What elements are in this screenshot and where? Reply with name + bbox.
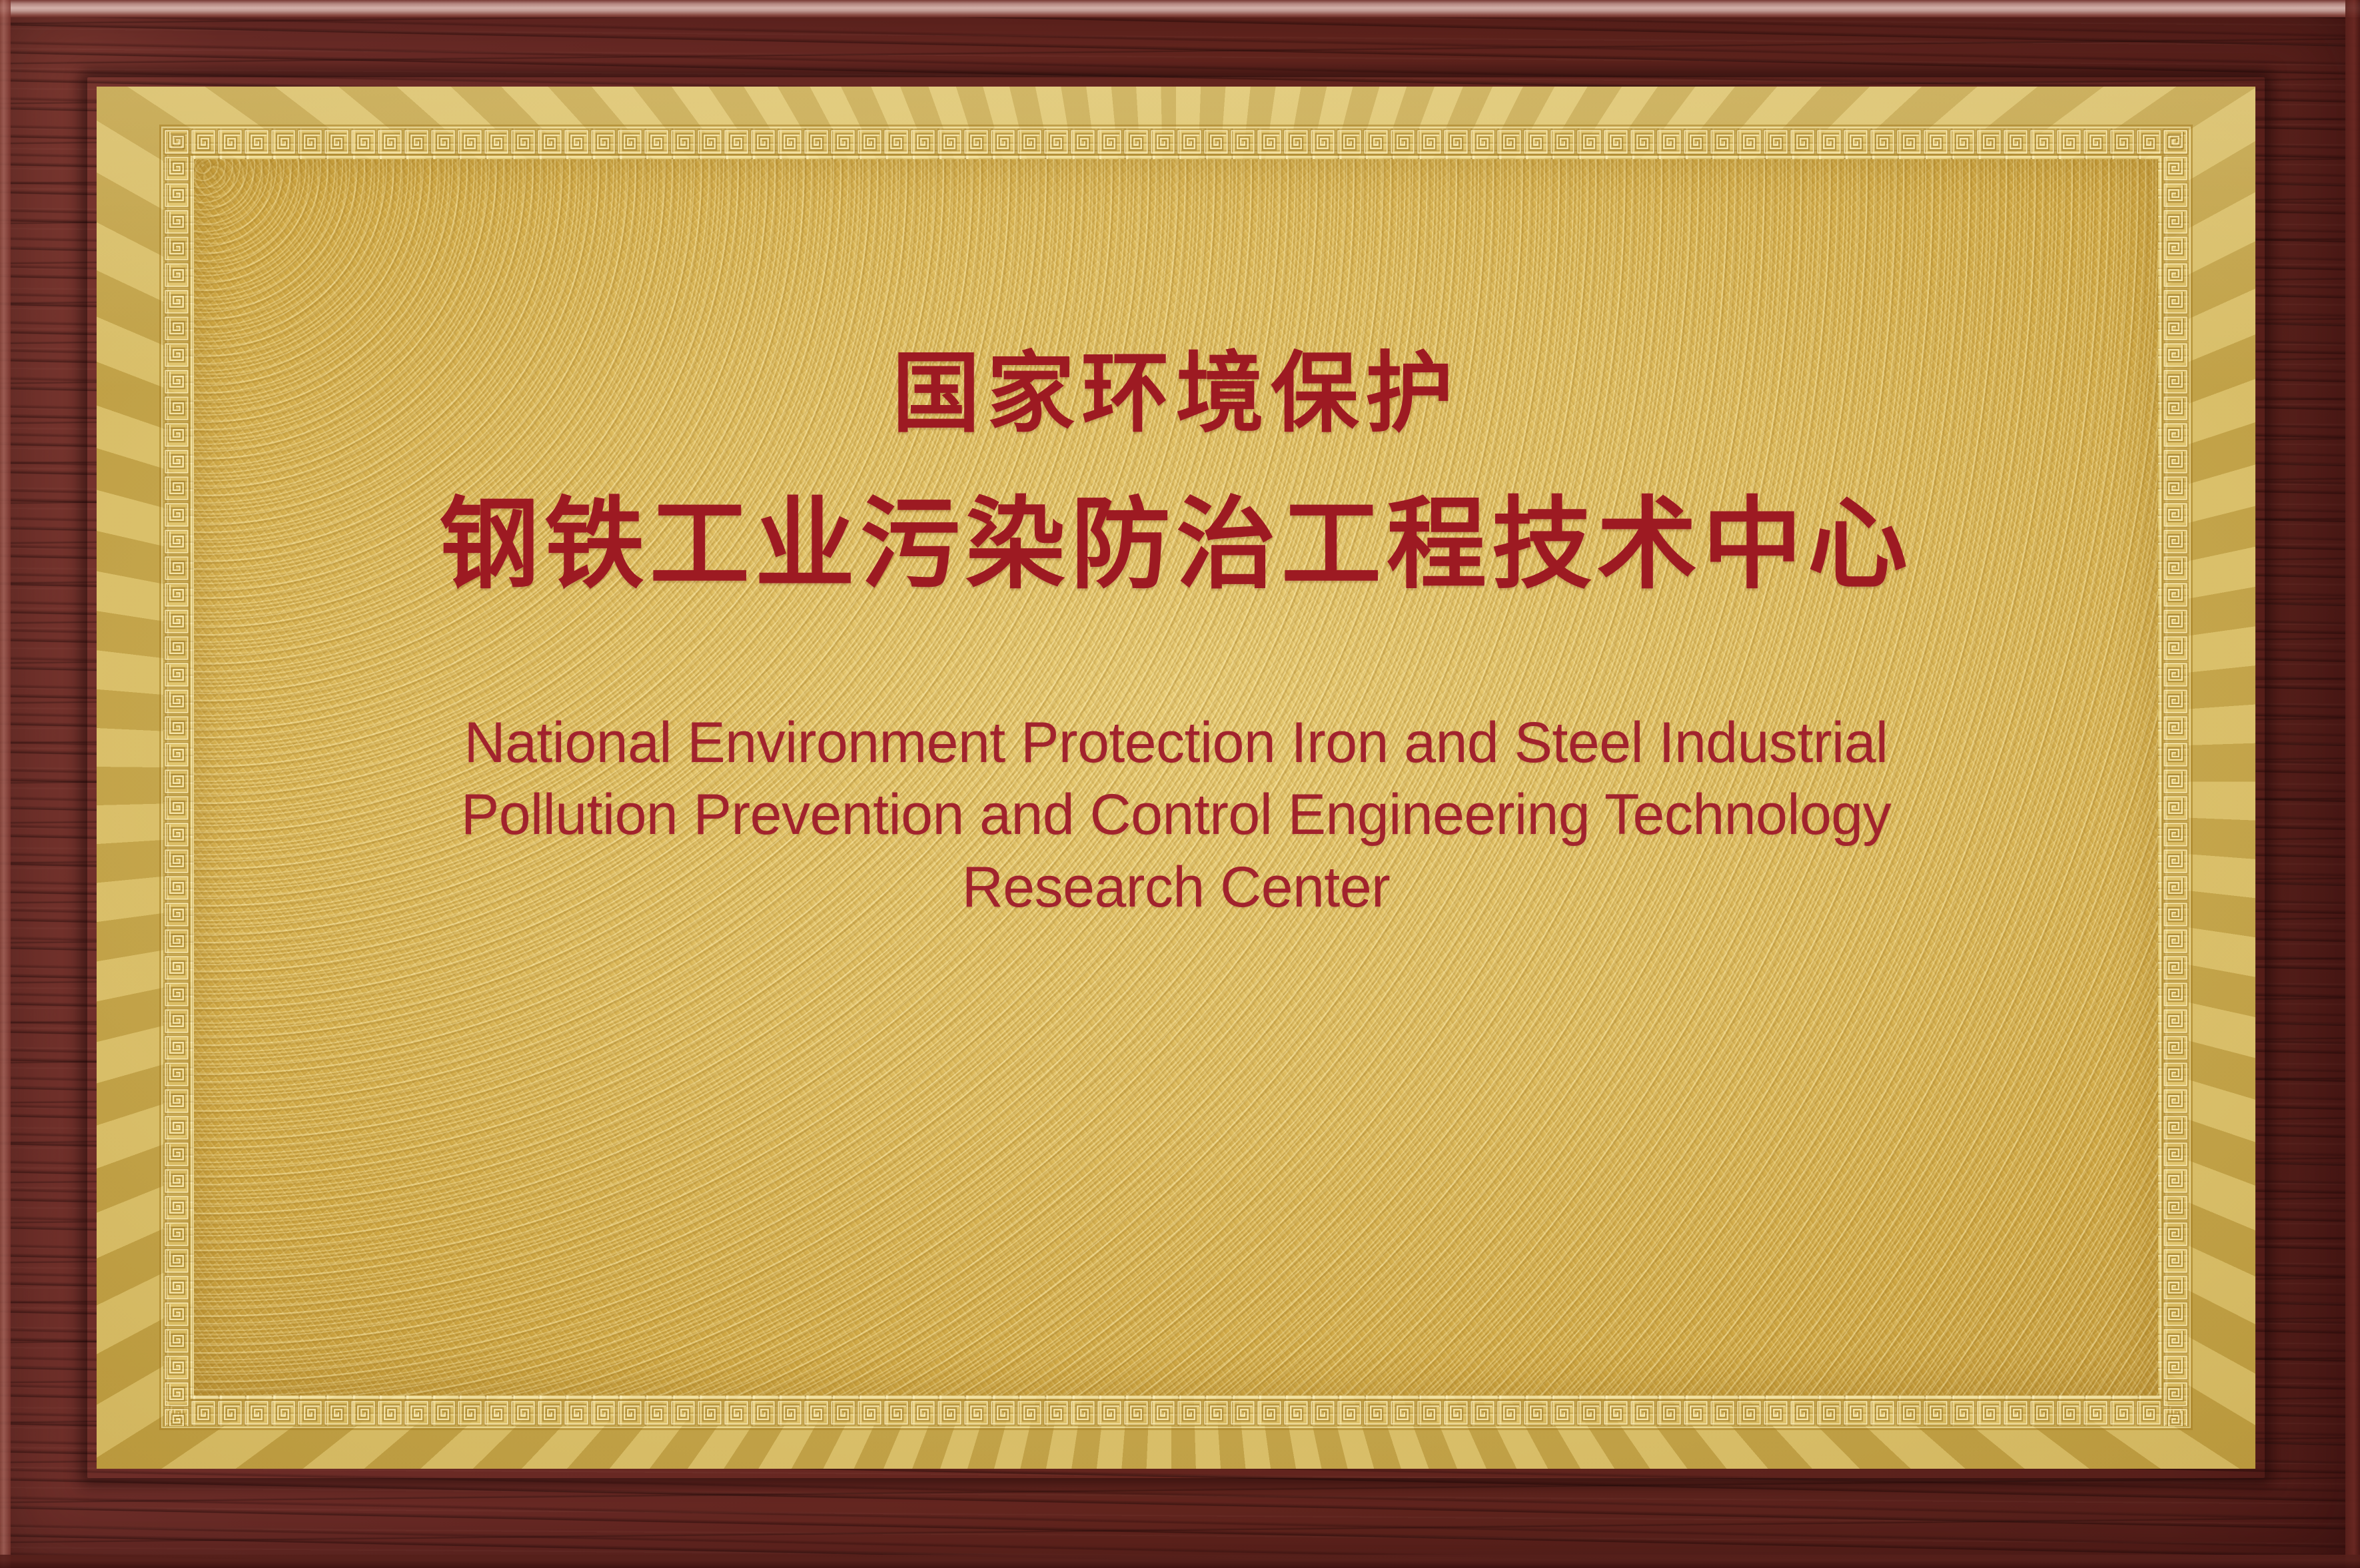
award-plaque: 国家环境保护 钢铁工业污染防治工程技术中心 National Environme… xyxy=(0,0,2360,1568)
frame-bevel-left-highlight xyxy=(0,0,11,1568)
greek-key-border-left xyxy=(163,129,190,1426)
subtitle-english-line-2: Pollution Prevention and Control Enginee… xyxy=(403,779,1949,851)
greek-key-border-top xyxy=(163,129,2189,155)
inscription-text-layer: 国家环境保护 钢铁工业污染防治工程技术中心 National Environme… xyxy=(194,159,2158,1395)
frame-bevel-bottom-shadow xyxy=(0,1555,2360,1568)
frame-bevel-right-shadow xyxy=(2345,0,2360,1568)
title-chinese-line-1: 国家环境保护 xyxy=(892,350,1460,438)
subtitle-english-line-1: National Environment Protection Iron and… xyxy=(403,707,1949,779)
greek-key-border-right xyxy=(2162,129,2189,1426)
subtitle-english: National Environment Protection Iron and… xyxy=(403,707,1949,923)
greek-key-border-bottom xyxy=(163,1399,2189,1426)
frame-bevel-top-highlight xyxy=(0,0,2360,17)
gold-plate: 国家环境保护 钢铁工业污染防治工程技术中心 National Environme… xyxy=(97,87,2255,1469)
subtitle-english-line-3: Research Center xyxy=(403,851,1949,923)
title-chinese-line-2: 钢铁工业污染防治工程技术中心 xyxy=(439,495,1913,595)
